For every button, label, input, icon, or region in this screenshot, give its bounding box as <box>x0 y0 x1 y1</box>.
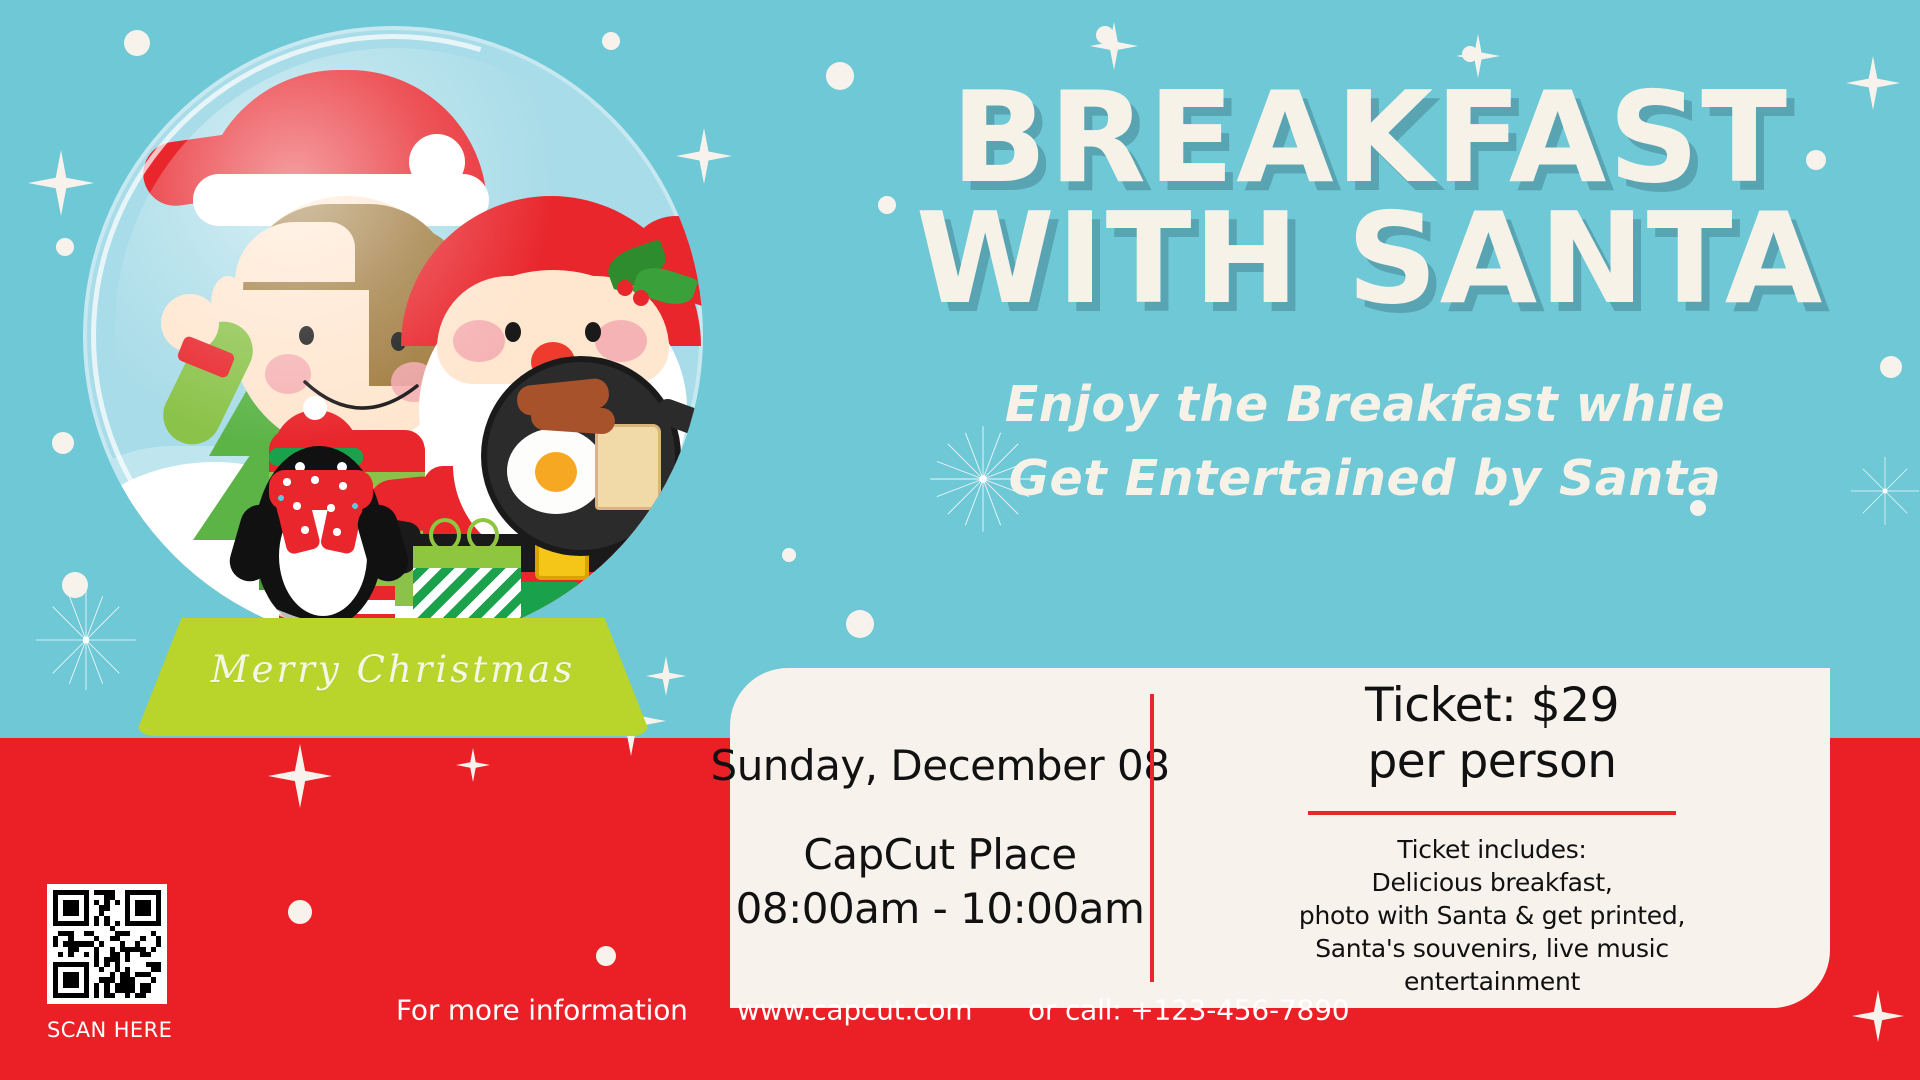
ticket-includes-line: Delicious breakfast, <box>1372 866 1613 899</box>
title-line-2: WITH SANTA <box>840 199 1900 320</box>
snow-dot <box>52 432 74 454</box>
snow-dot <box>846 610 874 638</box>
ticket-includes-line: Santa's souvenirs, live music <box>1315 932 1669 965</box>
event-venue: CapCut Place <box>803 828 1076 882</box>
ticket-includes-line: photo with Santa & get printed, <box>1299 899 1685 932</box>
santa-cheek <box>595 320 647 362</box>
gift-box-lid <box>413 546 521 568</box>
event-time: 08:00am - 10:00am <box>736 882 1145 936</box>
snow-dot <box>56 238 74 256</box>
event-details-column: Sunday, December 08 CapCut Place 08:00am… <box>730 668 1150 1008</box>
subtitle-line-2: Get Entertained by Santa <box>820 442 1910 516</box>
title-line-1: BREAKFAST <box>840 78 1900 199</box>
santa-cheek <box>453 320 505 362</box>
globe-inner-scene <box>83 26 703 646</box>
subtitle-line-1: Enjoy the Breakfast while <box>820 368 1910 442</box>
fried-egg-yolk <box>535 452 577 492</box>
toast-slice <box>595 424 661 510</box>
event-info-panel: Sunday, December 08 CapCut Place 08:00am… <box>730 668 1830 1008</box>
holly-berry <box>617 280 633 296</box>
ticket-price-unit: per person <box>1367 734 1616 789</box>
footer-more-info: For more information <box>396 994 688 1027</box>
ticket-horizontal-divider <box>1308 811 1676 815</box>
holly-berry <box>633 290 649 306</box>
gift-ribbon-bow <box>429 518 461 552</box>
event-date: Sunday, December 08 <box>711 741 1170 790</box>
elf-forehead <box>235 222 355 282</box>
santa-eye <box>505 322 521 342</box>
elf-hat-pompom <box>409 134 465 190</box>
page-title: BREAKFAST WITH SANTA <box>840 78 1900 320</box>
ticket-includes-line: entertainment <box>1404 965 1580 998</box>
snow-dot <box>596 946 616 966</box>
gift-ribbon-bow <box>467 518 499 552</box>
scan-here-label: SCAN HERE <box>47 1018 172 1042</box>
snow-dot <box>288 900 312 924</box>
globe-base: Merry Christmas <box>135 618 651 736</box>
penguin-hat-pompom <box>303 396 327 420</box>
ticket-price: Ticket: $29 <box>1365 678 1619 733</box>
ticket-column: Ticket: $29 per person Ticket includes: … <box>1154 668 1830 1008</box>
snow-globe-illustration: Merry Christmas <box>75 18 715 778</box>
santa-eye <box>585 322 601 342</box>
qr-block[interactable]: SCAN HERE <box>47 884 172 1042</box>
snow-dot <box>782 548 796 562</box>
subtitle: Enjoy the Breakfast while Get Entertaine… <box>820 368 1910 515</box>
qr-code[interactable] <box>47 884 167 1004</box>
globe-base-caption: Merry Christmas <box>135 648 651 691</box>
ticket-includes-heading: Ticket includes: <box>1397 833 1586 866</box>
footer-phone[interactable]: or call: +123-456-7890 <box>1028 994 1349 1027</box>
elf-eye <box>299 326 314 345</box>
footer-website[interactable]: www.capcut.com <box>737 994 972 1027</box>
flyer-canvas: ❅ ❅ ❅ <box>0 0 1920 1080</box>
